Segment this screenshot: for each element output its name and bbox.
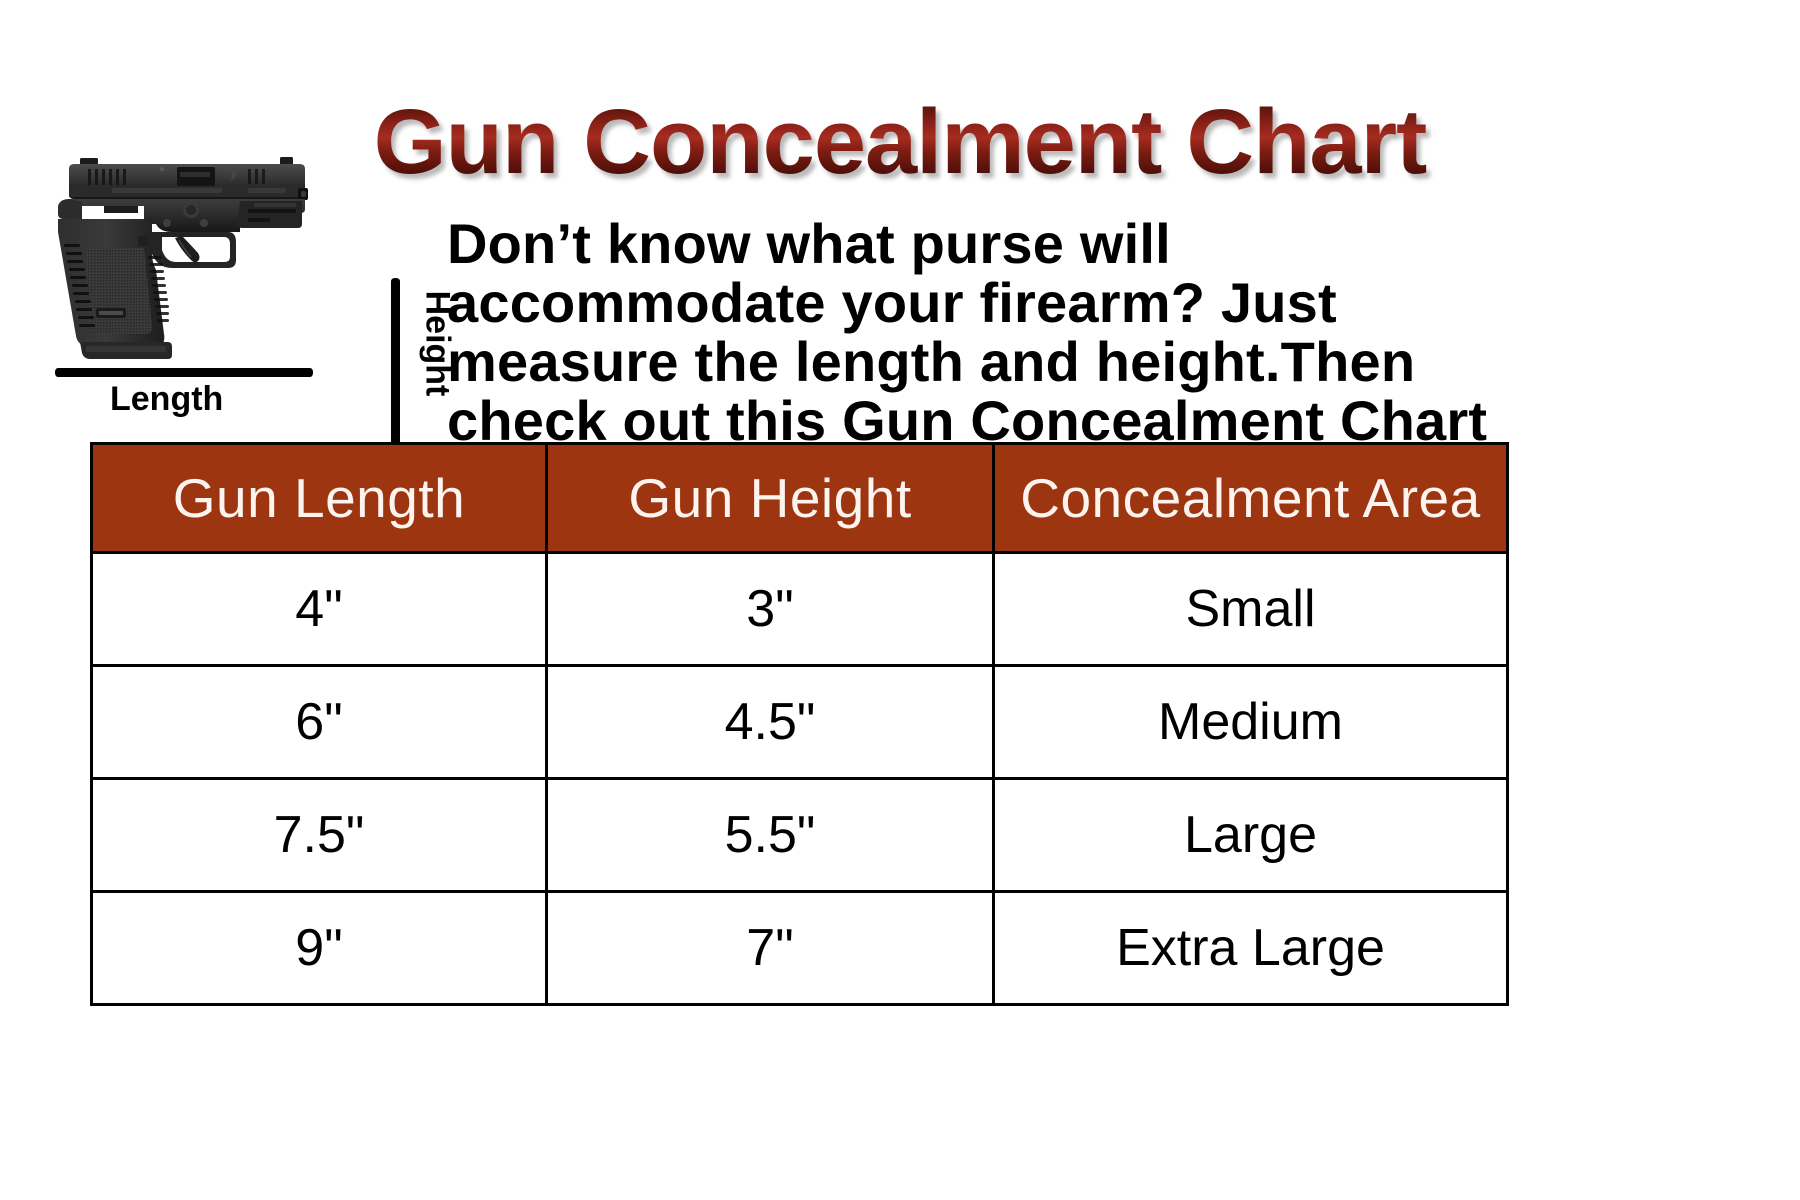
table-header: Gun Length Gun Height Concealment Area [92,444,1508,553]
table-row: 4" 3" Small [92,553,1508,666]
cell-concealment-area: Extra Large [994,892,1508,1005]
column-header-gun-height: Gun Height [547,444,994,553]
gun-concealment-table: Gun Length Gun Height Concealment Area 4… [90,442,1509,1006]
gun-measurement-figure: Height Length [52,128,412,418]
cell-gun-length: 7.5" [92,779,547,892]
table-header-row: Gun Length Gun Height Concealment Area [92,444,1508,553]
page-title: Gun Concealment Chart [374,96,1427,188]
cell-gun-length: 4" [92,553,547,666]
table-row: 9" 7" Extra Large [92,892,1508,1005]
cell-concealment-area: Medium [994,666,1508,779]
cell-gun-height: 4.5" [547,666,994,779]
cell-gun-height: 3" [547,553,994,666]
length-measure-bar [55,368,313,377]
cell-gun-length: 6" [92,666,547,779]
length-measure-label: Length [110,380,223,419]
table-body: 4" 3" Small 6" 4.5" Medium 7.5" 5.5" Lar… [92,553,1508,1005]
table-row: 6" 4.5" Medium [92,666,1508,779]
cell-gun-height: 7" [547,892,994,1005]
table-row: 7.5" 5.5" Large [92,779,1508,892]
cell-gun-height: 5.5" [547,779,994,892]
cell-concealment-area: Large [994,779,1508,892]
column-header-gun-length: Gun Length [92,444,547,553]
pistol-icon [52,136,342,376]
cell-concealment-area: Small [994,553,1508,666]
cell-gun-length: 9" [92,892,547,1005]
column-header-concealment-area: Concealment Area [994,444,1508,553]
